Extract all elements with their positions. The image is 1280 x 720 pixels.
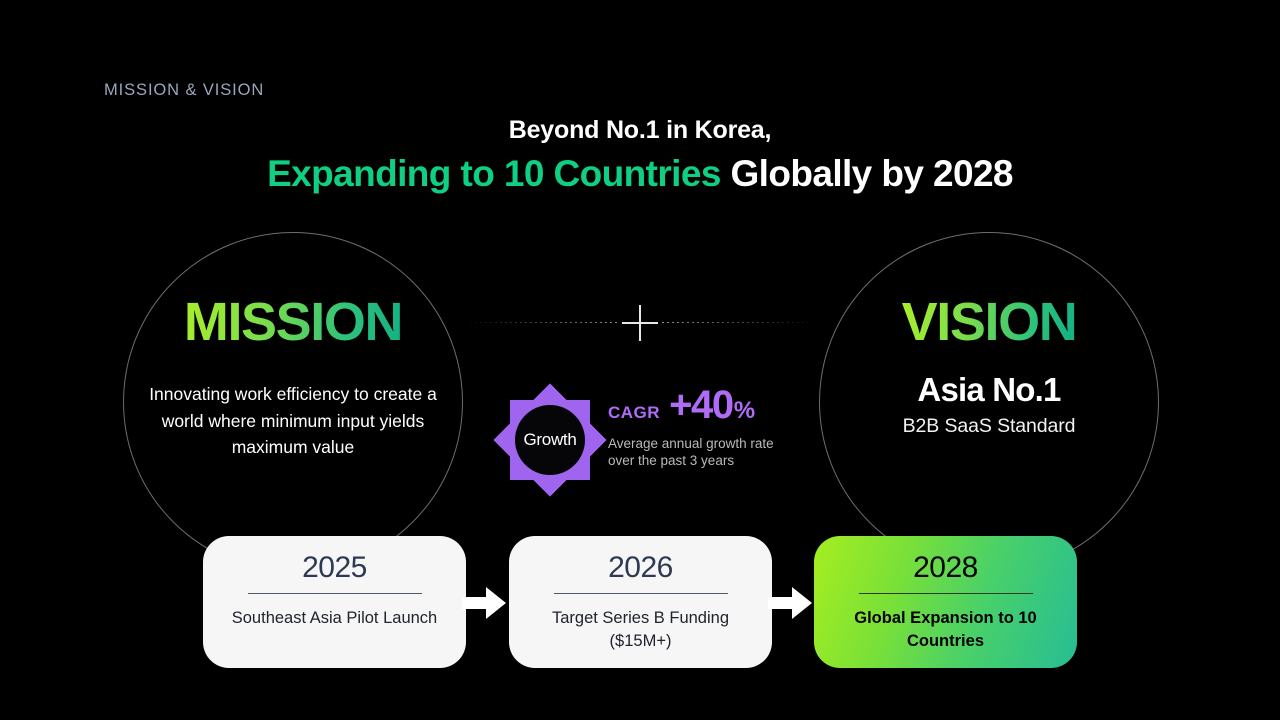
- timeline-description: Global Expansion to 10 Countries: [814, 607, 1077, 653]
- cagr-note: Average annual growth rate over the past…: [608, 435, 798, 469]
- headline-accent-text: Expanding to 10 Countries: [267, 153, 721, 194]
- vision-sub-text: B2B SaaS Standard: [820, 415, 1158, 438]
- arrow-right-icon: [462, 586, 506, 620]
- growth-metric: Growth CAGR +40 % Average annual growth …: [498, 385, 798, 495]
- timeline-divider: [859, 593, 1033, 594]
- arrow-right-icon: [768, 586, 812, 620]
- vision-main-text: Asia No.1: [820, 371, 1158, 409]
- plus-icon-vertical: [639, 305, 641, 341]
- headline-rest-text: Globally by 2028: [721, 153, 1013, 194]
- growth-metric-body: CAGR +40 % Average annual growth rate ov…: [608, 385, 798, 469]
- divider-dots-left: [470, 322, 618, 323]
- headline-line-1: Beyond No.1 in Korea,: [0, 116, 1280, 145]
- timeline-card-2026[interactable]: 2026 Target Series B Funding ($15M+): [509, 536, 772, 668]
- timeline-divider: [554, 593, 728, 594]
- timeline-year: 2028: [814, 550, 1077, 585]
- growth-badge-label: Growth: [498, 388, 602, 492]
- vision-pillar: VISION Asia No.1 B2B SaaS Standard: [819, 232, 1159, 572]
- timeline-description: Target Series B Funding ($15M+): [509, 607, 772, 653]
- timeline-card-2028[interactable]: 2028 Global Expansion to 10 Countries: [814, 536, 1077, 668]
- section-eyebrow-label: MISSION & VISION: [104, 81, 264, 100]
- divider-dots-right: [662, 322, 810, 323]
- timeline-card-2025[interactable]: 2025 Southeast Asia Pilot Launch: [203, 536, 466, 668]
- timeline-description: Southeast Asia Pilot Launch: [203, 607, 466, 630]
- cagr-label: CAGR: [608, 403, 660, 423]
- timeline-divider: [248, 593, 422, 594]
- timeline-year: 2026: [509, 550, 772, 585]
- cagr-value: +40: [669, 385, 733, 425]
- cagr-unit: %: [734, 397, 755, 425]
- vision-title: VISION: [902, 295, 1077, 349]
- timeline-year: 2025: [203, 550, 466, 585]
- page-title: Beyond No.1 in Korea, Expanding to 10 Co…: [0, 116, 1280, 197]
- starburst-icon: Growth: [498, 388, 602, 492]
- headline-line-2: Expanding to 10 Countries Globally by 20…: [0, 150, 1280, 197]
- growth-metric-headline: CAGR +40 %: [608, 385, 798, 429]
- mission-body-text: Innovating work efficiency to create a w…: [124, 381, 462, 461]
- center-divider: [470, 322, 810, 324]
- mission-pillar: MISSION Innovating work efficiency to cr…: [123, 232, 463, 572]
- timeline: 2025 Southeast Asia Pilot Launch 2026 Ta…: [0, 536, 1280, 668]
- mission-title: MISSION: [184, 295, 402, 349]
